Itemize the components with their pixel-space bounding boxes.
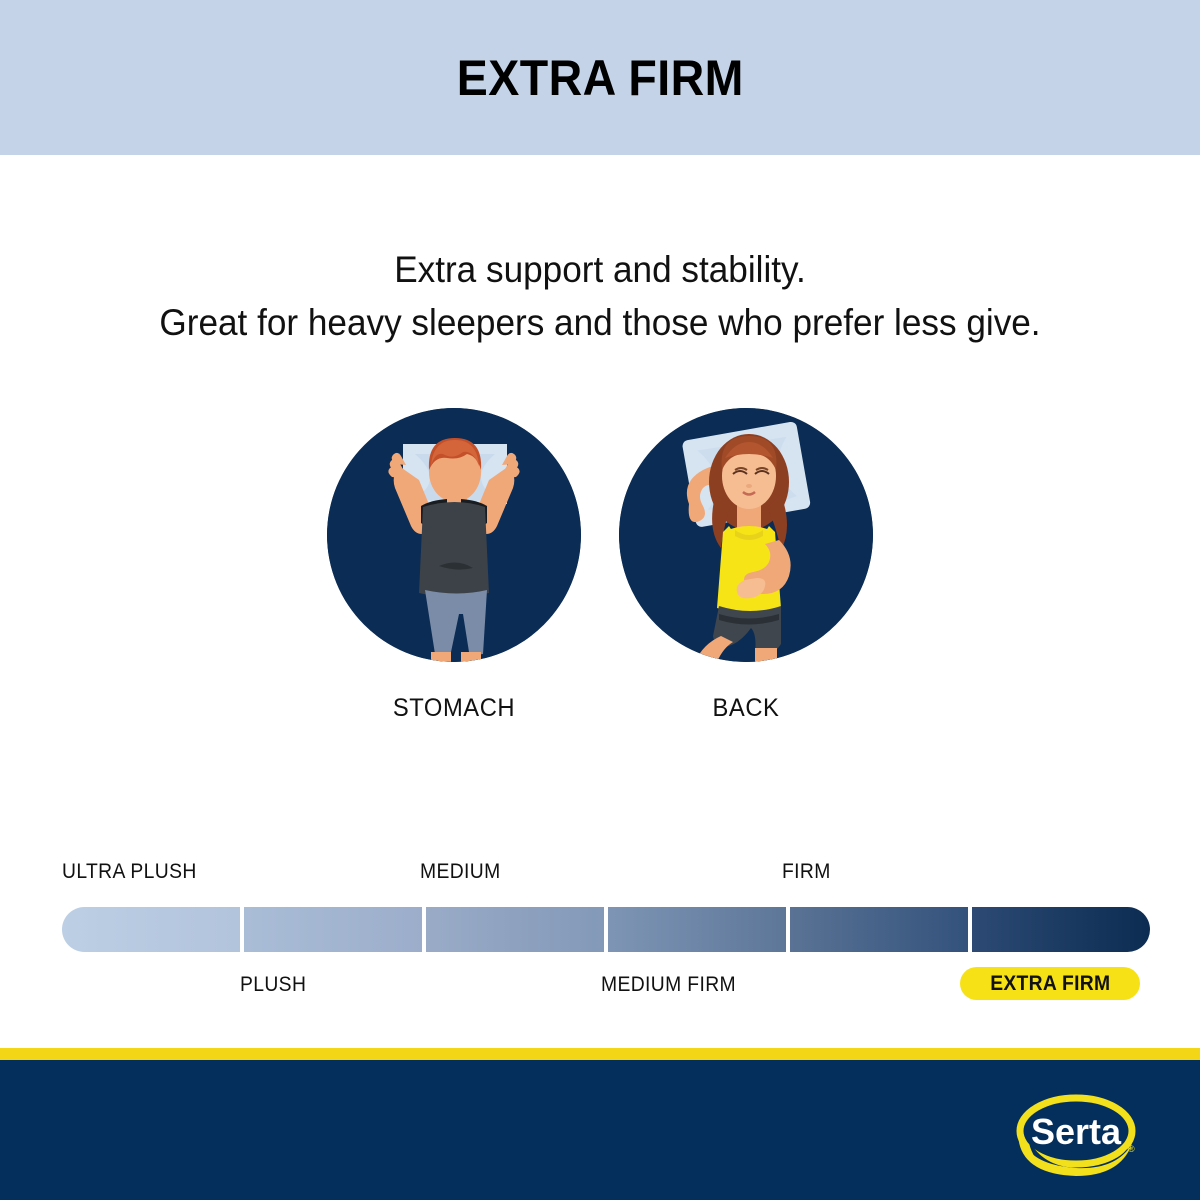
selected-firmness-badge[interactable]: EXTRA FIRM	[960, 967, 1140, 1000]
position-label-back: BACK	[625, 694, 866, 723]
position-label-stomach: STOMACH	[333, 694, 574, 723]
sleep-positions: STOMACH	[0, 408, 1200, 723]
serta-logo-text: Serta	[1031, 1111, 1122, 1152]
subtitle-line-1: Extra support and stability.	[30, 243, 1170, 296]
subtitle-line-2: Great for heavy sleepers and those who p…	[30, 296, 1170, 349]
back-sleeper-svg	[619, 408, 873, 662]
selected-firmness-label: EXTRA FIRM	[990, 972, 1110, 996]
stomach-sleeper-illustration	[327, 408, 581, 662]
scale-label-firm: FIRM	[782, 860, 831, 884]
scale-label-medium: MEDIUM	[420, 860, 501, 884]
firmness-scale: ULTRA PLUSH MEDIUM FIRM PLUSH MEDIUM FIR…	[0, 860, 1200, 1020]
serta-logo-svg: Serta ®	[1010, 1086, 1142, 1176]
subtitle-block: Extra support and stability. Great for h…	[30, 243, 1170, 349]
serta-trademark: ®	[1128, 1144, 1135, 1154]
scale-segment-medium-firm[interactable]	[608, 907, 786, 952]
scale-segment-plush[interactable]	[244, 907, 422, 952]
back-sleeper-illustration	[619, 408, 873, 662]
scale-segment-extra-firm[interactable]	[972, 907, 1150, 952]
position-stomach: STOMACH	[327, 408, 581, 723]
scale-top-labels: ULTRA PLUSH MEDIUM FIRM	[0, 860, 1200, 894]
scale-segment-ultra-plush[interactable]	[62, 907, 240, 952]
stomach-sleeper-svg	[327, 408, 581, 662]
scale-label-ultra-plush: ULTRA PLUSH	[62, 860, 197, 884]
scale-segment-medium[interactable]	[426, 907, 604, 952]
page-title: EXTRA FIRM	[456, 49, 743, 107]
footer-accent-stripe	[0, 1048, 1200, 1060]
scale-label-medium-firm: MEDIUM FIRM	[601, 973, 736, 997]
position-back: BACK	[619, 408, 873, 723]
firmness-bar[interactable]	[62, 907, 1140, 952]
serta-logo[interactable]: Serta ®	[1010, 1086, 1142, 1176]
page-footer: Serta ®	[0, 1060, 1200, 1200]
scale-segment-firm[interactable]	[790, 907, 968, 952]
scale-label-plush: PLUSH	[240, 973, 306, 997]
page-header: EXTRA FIRM	[0, 0, 1200, 155]
